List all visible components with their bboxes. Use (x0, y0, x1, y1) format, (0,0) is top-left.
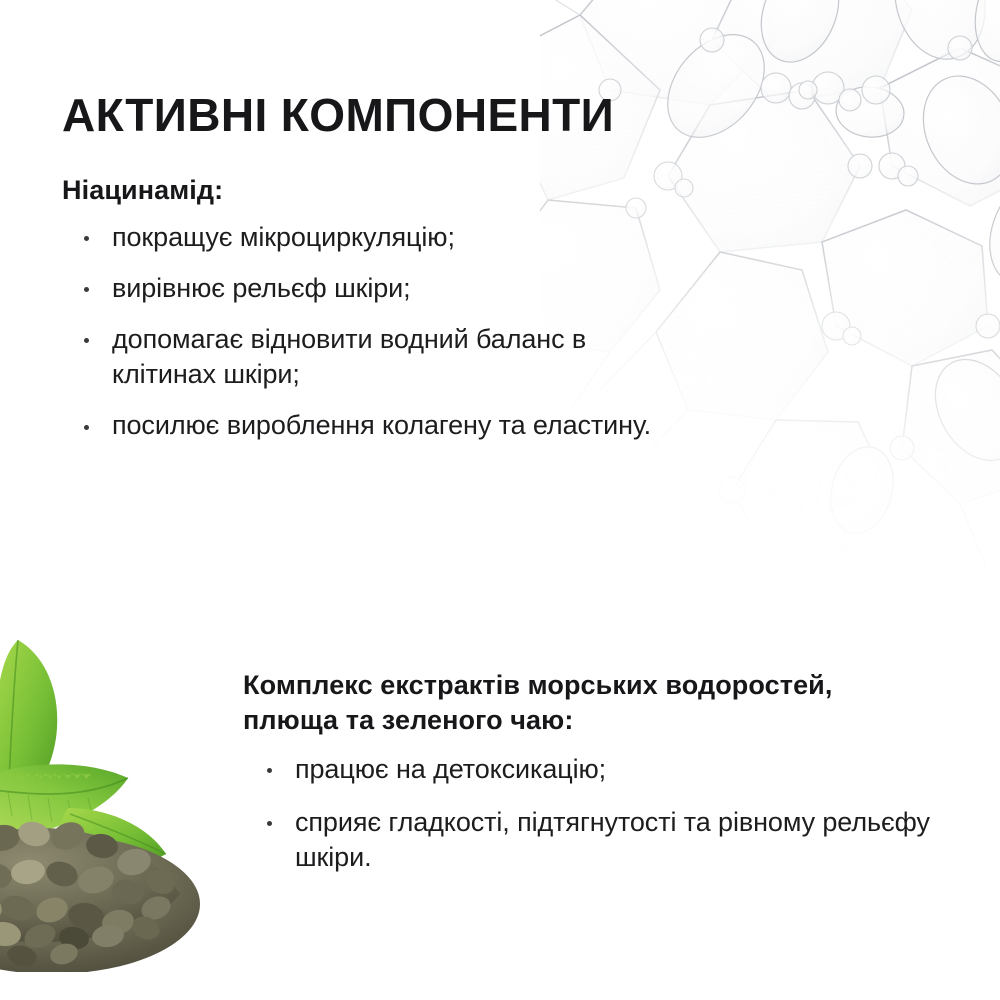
bullet-dot-icon (267, 768, 272, 773)
list-item: допомагає відновити водний баланс в кліт… (62, 322, 662, 392)
list-item-label: працює на детоксикацію; (295, 754, 606, 784)
benefits-list: працює на детоксикацію; сприяє гладкості… (243, 752, 933, 875)
bullet-dot-icon (84, 338, 89, 343)
list-item-label: покращує мікроциркуляцію; (112, 222, 455, 252)
list-item: посилює вироблення колагену та еластину. (62, 408, 662, 443)
section-heading: Комплекс екстрактів морських водоростей,… (243, 668, 933, 737)
section-niacinamide: Ніацинамід: покращує мікроциркуляцію; ви… (62, 175, 662, 443)
benefits-list: покращує мікроциркуляцію; вирівнює рельє… (62, 220, 662, 443)
list-item-label: допомагає відновити водний баланс в кліт… (112, 324, 586, 389)
section-heading: Ніацинамід: (62, 175, 662, 206)
bullet-dot-icon (84, 236, 89, 241)
list-item-label: посилює вироблення колагену та еластину. (112, 410, 651, 440)
list-item: покращує мікроциркуляцію; (62, 220, 662, 255)
page-title: АКТИВНІ КОМПОНЕНТИ (62, 91, 614, 139)
bullet-dot-icon (267, 821, 272, 826)
slide-canvas: АКТИВНІ КОМПОНЕНТИ Ніацинамід: покращує … (0, 0, 1000, 1000)
section-seaweed-ivy-greentea: Комплекс екстрактів морських водоростей,… (243, 668, 933, 893)
list-item: сприяє гладкості, підтягнутості та рівно… (243, 805, 933, 875)
green-tea-image (0, 622, 252, 972)
list-item: вирівнює рельєф шкіри; (62, 271, 662, 306)
bullet-dot-icon (84, 425, 89, 430)
list-item: працює на детоксикацію; (243, 752, 933, 787)
list-item-label: сприяє гладкості, підтягнутості та рівно… (295, 807, 930, 872)
list-item-label: вирівнює рельєф шкіри; (112, 273, 411, 303)
bullet-dot-icon (84, 287, 89, 292)
